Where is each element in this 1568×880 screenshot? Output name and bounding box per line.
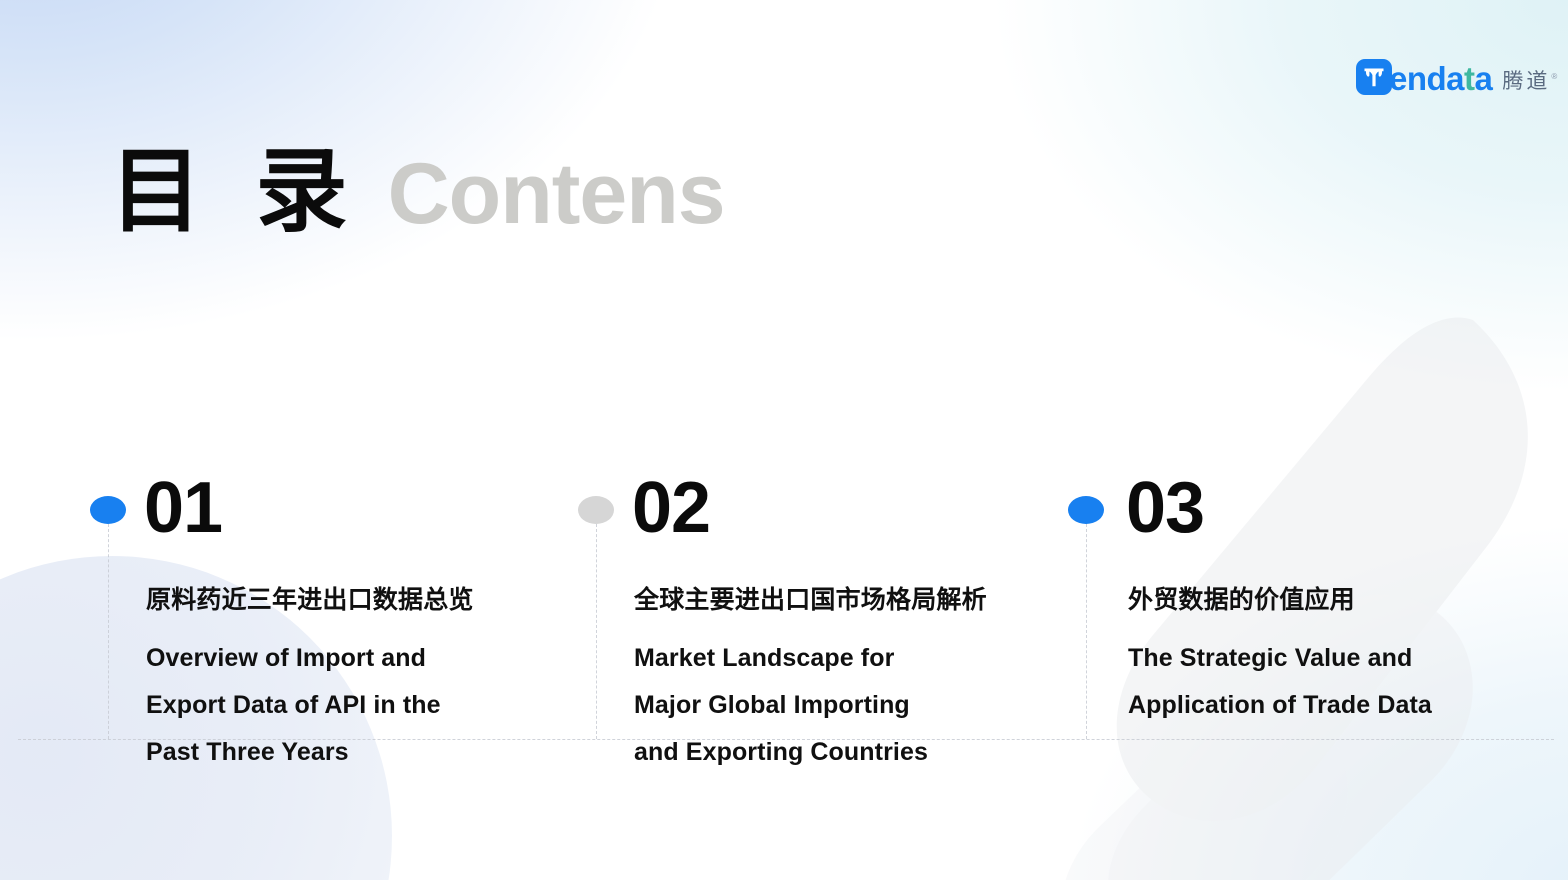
vertical-dashed-guide-2 <box>596 524 597 739</box>
toc-number-01: 01 <box>144 472 222 544</box>
toc-bullet-icon-01[interactable] <box>90 496 126 524</box>
toc-title-en-line-02-3: and Exporting Countries <box>634 729 987 776</box>
logo-wordmark-accent: t <box>1464 60 1475 97</box>
toc-text-02: 全球主要进出口国市场格局解析 Market Landscape for Majo… <box>634 588 987 776</box>
page-title-english: Contens <box>388 151 725 237</box>
toc-title-cn-01: 原料药近三年进出口数据总览 <box>146 588 474 613</box>
vertical-dashed-guide-1 <box>108 524 109 739</box>
toc-title-en-line-03-2: Application of Trade Data <box>1128 682 1432 729</box>
page-title: 目 录 Contens <box>110 146 725 238</box>
registered-mark-icon: ® <box>1551 72 1560 81</box>
toc-number-03: 03 <box>1126 472 1204 544</box>
toc-bullet-icon-02[interactable] <box>578 496 614 524</box>
slide-canvas: endata 腾道® 目 录 Contens 01 原料药近三年进出口数据总览 … <box>0 0 1568 880</box>
logo-chinese-text: 腾道 <box>1502 70 1550 93</box>
logo-wordmark: endata <box>1389 62 1492 95</box>
toc-text-03: 外贸数据的价值应用 The Strategic Value and Applic… <box>1128 588 1432 729</box>
toc-title-cn-03: 外贸数据的价值应用 <box>1128 588 1432 613</box>
toc-title-cn-02: 全球主要进出口国市场格局解析 <box>634 588 987 613</box>
toc-title-en-line-01-2: Export Data of API in the <box>146 682 474 729</box>
toc-title-en-line-02-1: Market Landscape for <box>634 635 987 682</box>
toc-bullet-icon-03[interactable] <box>1068 496 1104 524</box>
toc-title-en-line-01-3: Past Three Years <box>146 729 474 776</box>
tendata-t-mark-icon <box>1356 59 1392 95</box>
toc-title-en-line-01-1: Overview of Import and <box>146 635 474 682</box>
vertical-dashed-guide-3 <box>1086 524 1087 739</box>
toc-title-en-line-03-1: The Strategic Value and <box>1128 635 1432 682</box>
logo-wordmark-pre: enda <box>1389 60 1464 97</box>
toc-number-02: 02 <box>632 472 710 544</box>
brand-logo: endata 腾道® <box>1356 57 1559 97</box>
page-title-chinese: 目 录 <box>110 146 362 238</box>
logo-wordmark-post: a <box>1475 60 1493 97</box>
logo-chinese-name: 腾道® <box>1502 65 1559 95</box>
toc-text-01: 原料药近三年进出口数据总览 Overview of Import and Exp… <box>146 588 474 776</box>
toc-title-en-line-02-2: Major Global Importing <box>634 682 987 729</box>
